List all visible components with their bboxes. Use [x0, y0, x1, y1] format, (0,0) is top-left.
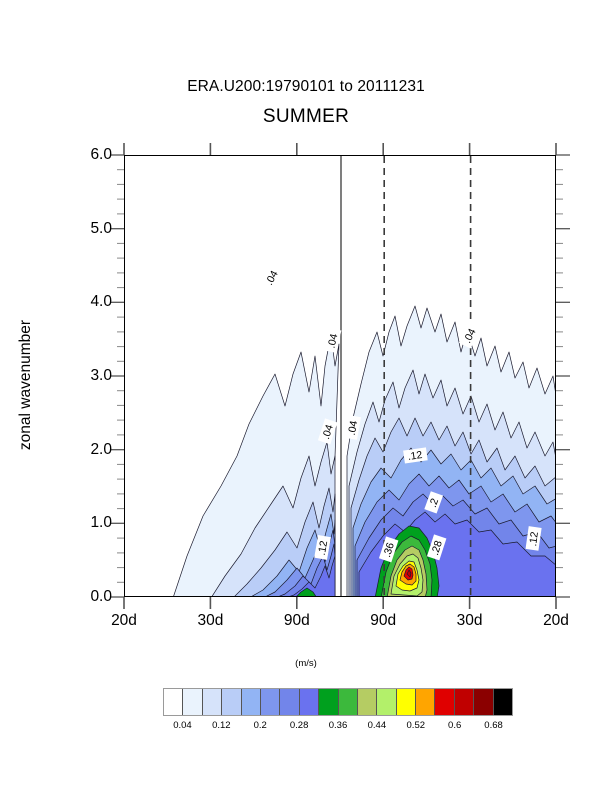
- colorbar-tick-label: 0.12: [212, 720, 231, 731]
- colorbar-cell: [435, 689, 454, 715]
- colorbar-cell: [222, 689, 241, 715]
- y-axis-tick-labels: 0.0 1.0 2.0 3.0 4.0 5.0 6.0 20d 30d 90d …: [0, 0, 612, 792]
- colorbar-tick-label: 0.36: [329, 720, 348, 731]
- colorbar-cell: [242, 689, 261, 715]
- colorbar-cell: [261, 689, 280, 715]
- x-tick-label: 30d: [197, 612, 223, 630]
- colorbar-cell: [474, 689, 493, 715]
- colorbar-tick-label: 0.04: [173, 720, 192, 731]
- colorbar-cell: [416, 689, 435, 715]
- y-tick-label: 1.0: [56, 514, 112, 532]
- x-tick-label: 20d: [543, 612, 569, 630]
- colorbar-cell: [397, 689, 416, 715]
- x-tick-label: 30d: [457, 612, 483, 630]
- y-tick-label: 4.0: [56, 293, 112, 311]
- colorbar-cell: [203, 689, 222, 715]
- y-tick-label: 3.0: [56, 367, 112, 385]
- y-tick-label: 6.0: [56, 146, 112, 164]
- x-tick-label: 20d: [111, 612, 137, 630]
- colorbar-cell: [319, 689, 338, 715]
- colorbar-tick-label: 0.2: [254, 720, 267, 731]
- y-tick-label: 0.0: [56, 588, 112, 606]
- x-tick-label: 90d: [284, 612, 310, 630]
- y-tick-label: 5.0: [56, 220, 112, 238]
- colorbar-cell: [377, 689, 396, 715]
- colorbar-tick-labels: 0.040.120.20.280.360.440.520.60.68: [163, 720, 513, 738]
- colorbar: [163, 688, 513, 716]
- colorbar-tick-label: 0.52: [407, 720, 426, 731]
- colorbar-cell: [455, 689, 474, 715]
- colorbar-tick-label: 0.44: [368, 720, 387, 731]
- colorbar-cell: [494, 689, 512, 715]
- colorbar-tick-label: 0.6: [448, 720, 461, 731]
- colorbar-units: (m/s): [0, 658, 612, 669]
- y-tick-label: 2.0: [56, 441, 112, 459]
- colorbar-cell: [339, 689, 358, 715]
- y-axis-title: zonal wavenumber: [17, 255, 35, 515]
- colorbar-cell: [280, 689, 299, 715]
- colorbar-cell: [300, 689, 319, 715]
- colorbar-cell: [183, 689, 202, 715]
- colorbar-cell: [358, 689, 377, 715]
- colorbar-tick-label: 0.68: [484, 720, 503, 731]
- colorbar-tick-label: 0.28: [290, 720, 309, 731]
- x-tick-label: 90d: [370, 612, 396, 630]
- figure-canvas: ERA.U200:19790101 to 20111231 SUMMER: [0, 0, 612, 792]
- colorbar-cell: [164, 689, 183, 715]
